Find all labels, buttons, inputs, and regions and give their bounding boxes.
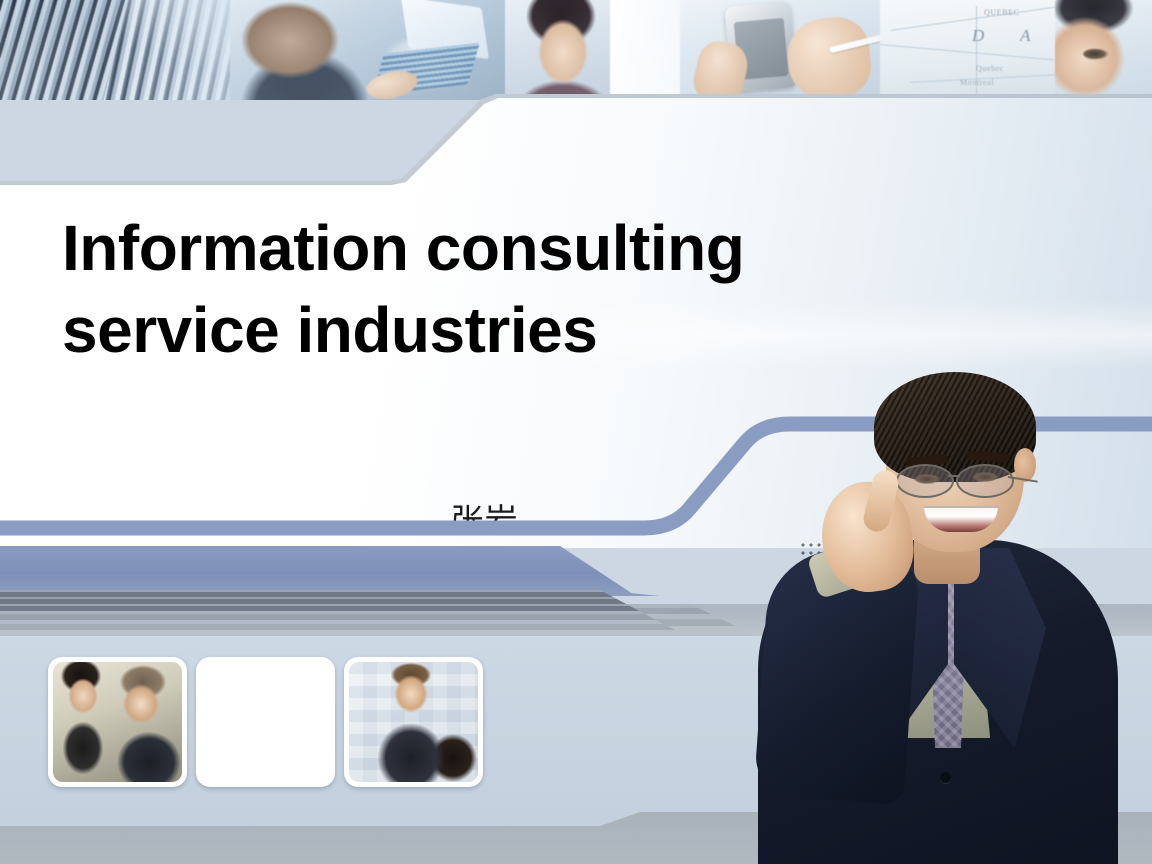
lens-left [896, 464, 954, 498]
skyscraper-photo [0, 0, 240, 100]
presentation-slide: QUEBEC D A Quebec Montreal Information c… [0, 0, 1152, 864]
map-line [880, 44, 1059, 61]
jacket-button [940, 772, 951, 783]
consulting-photo [349, 662, 478, 782]
eyeglasses [896, 464, 1032, 498]
map-label-a: A [1020, 26, 1031, 46]
page-title-line-1: Information consulting [62, 208, 922, 290]
businesswoman-photo [505, 0, 615, 100]
eye-detail [1083, 48, 1109, 60]
lens-right [956, 464, 1014, 498]
map-label-quebec-city: Quebec [976, 64, 1004, 73]
businessman-with-laptop-photo [230, 0, 510, 100]
page-title: Information consulting service industrie… [62, 208, 922, 372]
map-label-montreal: Montreal [960, 78, 994, 87]
thumbnail-strip [48, 657, 483, 787]
map-label-quebec-caps: QUEBEC [984, 8, 1020, 17]
thumbnail-2[interactable] [196, 657, 335, 787]
author-subtitle: -----张岩 [386, 494, 519, 542]
thumbnail-1[interactable] [48, 657, 187, 787]
pda-stylus-photo [680, 0, 910, 100]
meeting-photo [53, 662, 182, 782]
map-label-d: D [972, 26, 985, 46]
stylus-hand [784, 14, 874, 100]
glasses-bridge [948, 475, 960, 477]
thumbnail-3[interactable] [344, 657, 483, 787]
face-closeup-photo [1055, 0, 1152, 100]
banner-white-separator [610, 0, 690, 100]
header-photo-montage: QUEBEC D A Quebec Montreal [0, 0, 1152, 100]
canada-map-photo: QUEBEC D A Quebec Montreal [880, 0, 1070, 100]
handshake-photo [201, 662, 330, 782]
smiling-businessman-photo [718, 352, 1152, 864]
